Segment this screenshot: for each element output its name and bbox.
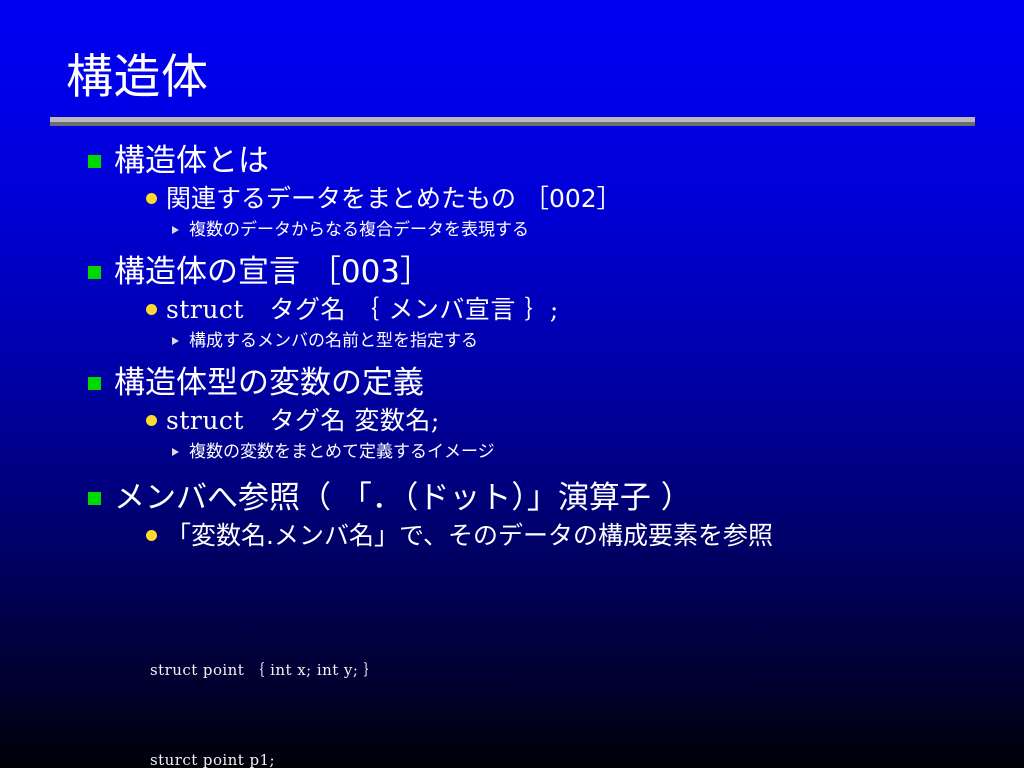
bullet-level1-variable-definition: 構造体型の変数の定義	[0, 363, 1024, 403]
bullet-level1-label: 構造体型の変数の定義	[114, 365, 424, 401]
code-line-struct-point: struct point ｛ int x; int y; ｝	[150, 655, 470, 685]
square-bullet-icon	[88, 377, 101, 390]
spacer	[0, 467, 1024, 478]
bullet-level2-member-reference: 「変数名.メンバ名」で、そのデータの構成要素を参照	[0, 518, 1024, 553]
bullet-level3-label: 複数のデータからなる複合データを表現する	[189, 220, 529, 240]
bullet-level2-label: 関連するデータをまとめたもの ［002］	[166, 184, 622, 213]
divider-shadow	[50, 122, 975, 126]
code-line-variable-p1: sturct point p1;	[150, 745, 470, 768]
dot-bullet-icon	[146, 193, 157, 204]
bullet-level2-label: 「変数名.メンバ名」で、そのデータの構成要素を参照	[166, 521, 773, 550]
bullet-level3-label: 複数の変数をまとめて定義するイメージ	[189, 442, 495, 462]
triangle-bullet-icon	[172, 337, 179, 345]
bullet-level1-structure-definition: 構造体とは	[0, 141, 1024, 181]
page-title: 構造体	[66, 52, 208, 105]
bullet-level2-variable-definition: struct タグ名 変数名;	[0, 403, 1024, 438]
bullet-level1-label: メンバへ参照（ 「．（ドット）」演算子 ）	[114, 480, 692, 516]
bullet-level3-variable-definition: 複数の変数をまとめて定義するイメージ	[0, 438, 1024, 467]
bullet-level3-label: 構成するメンバの名前と型を指定する	[189, 331, 478, 351]
bullet-level1-structure-declaration: 構造体の宣言 ［003］	[0, 252, 1024, 292]
slide: 構造体 構造体とは 関連するデータをまとめたもの ［002］ 複数のデータからな…	[0, 0, 1024, 768]
square-bullet-icon	[88, 266, 101, 279]
bullet-level1-label: 構造体の宣言 ［003］	[114, 254, 431, 290]
title-divider	[50, 117, 975, 126]
dot-bullet-icon	[146, 530, 157, 541]
spacer	[0, 356, 1024, 363]
dot-bullet-icon	[146, 415, 157, 426]
bullet-level2-structure-definition: 関連するデータをまとめたもの ［002］	[0, 181, 1024, 216]
bullet-level2-structure-declaration: struct タグ名 ｛ メンバ宣言 ｝;	[0, 292, 1024, 327]
triangle-bullet-icon	[172, 226, 179, 234]
bullet-level3-structure-declaration: 構成するメンバの名前と型を指定する	[0, 327, 1024, 356]
spacer	[0, 245, 1024, 252]
square-bullet-icon	[88, 155, 101, 168]
square-bullet-icon	[88, 492, 101, 505]
bullet-level2-label: struct タグ名 ｛ メンバ宣言 ｝;	[166, 295, 559, 324]
bullet-level1-label: 構造体とは	[114, 143, 269, 179]
triangle-bullet-icon	[172, 448, 179, 456]
bullet-level2-label: struct タグ名 変数名;	[166, 406, 440, 435]
dot-bullet-icon	[146, 304, 157, 315]
bullet-level1-member-reference: メンバへ参照（ 「．（ドット）」演算子 ）	[0, 478, 1024, 518]
bullet-level3-structure-definition: 複数のデータからなる複合データを表現する	[0, 216, 1024, 245]
slide-body: 構造体とは 関連するデータをまとめたもの ［002］ 複数のデータからなる複合デ…	[0, 141, 1024, 553]
code-block: struct point ｛ int x; int y; ｝ sturct po…	[150, 595, 470, 768]
